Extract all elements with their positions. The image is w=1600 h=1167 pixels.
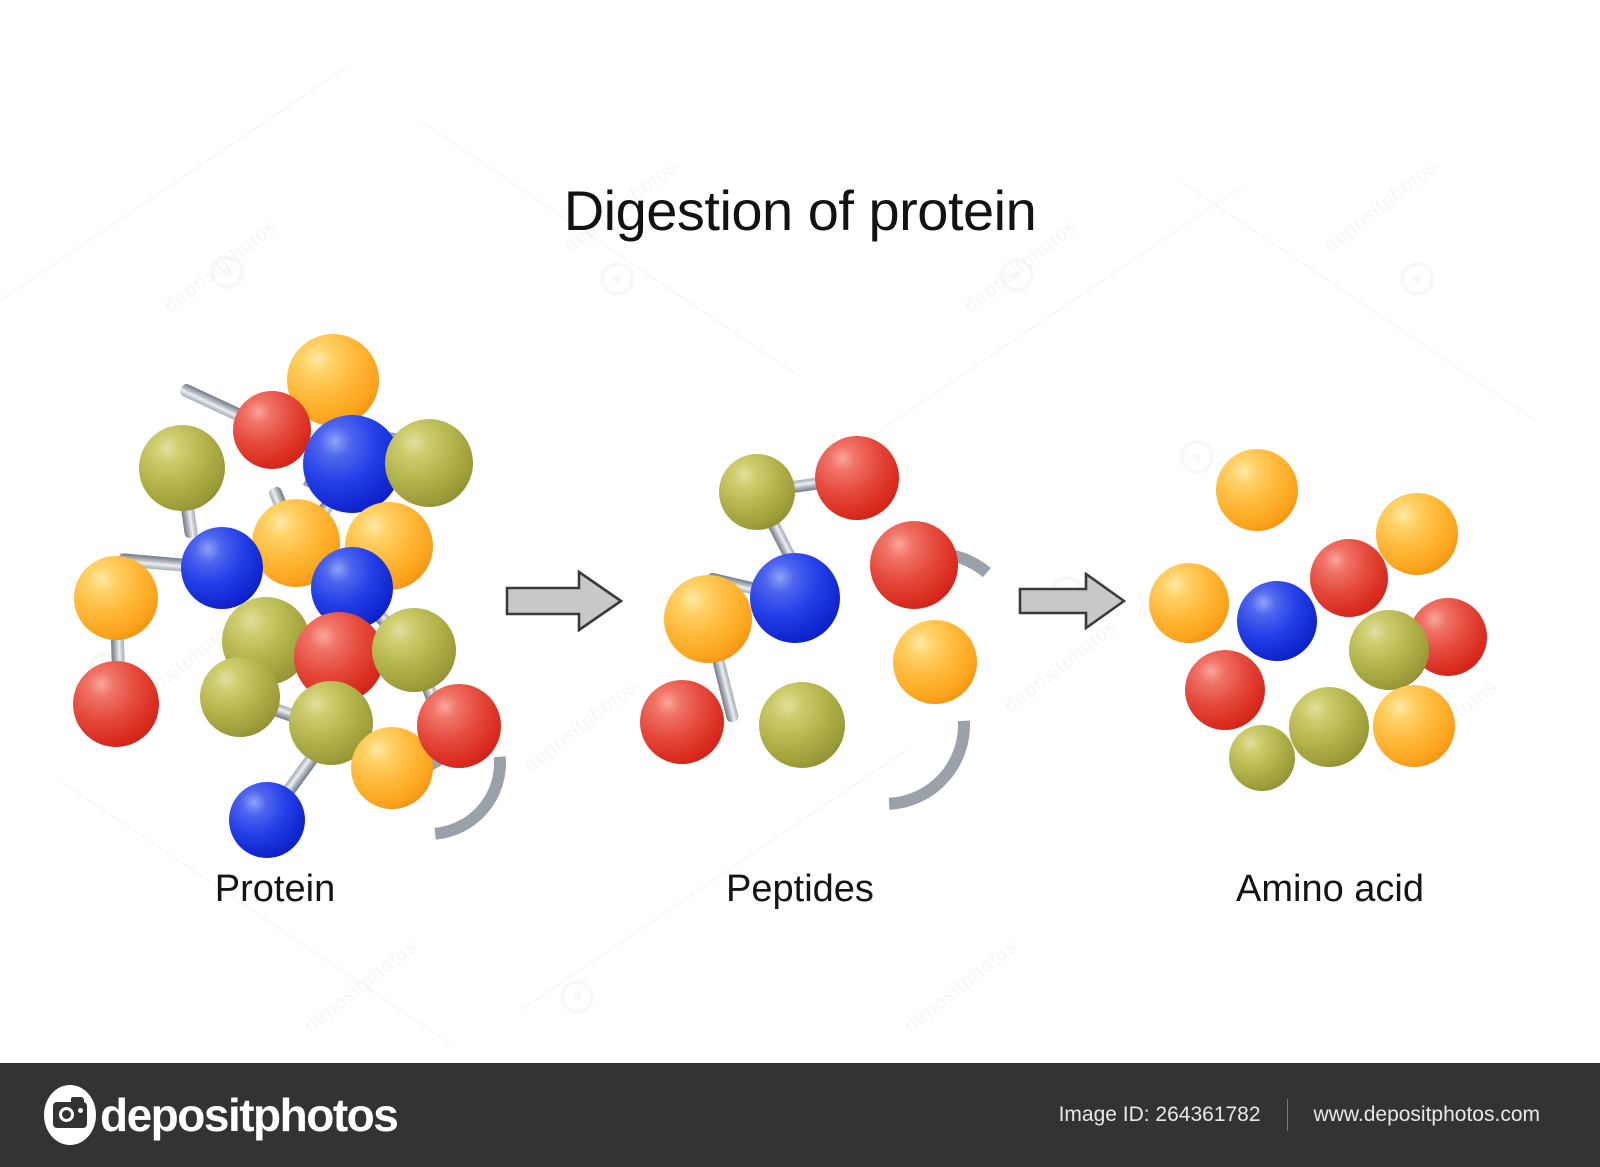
atom-red [1310,539,1388,617]
atom-orange [1216,449,1298,531]
atom-red [233,391,311,469]
atom-olive [372,608,456,692]
meta-divider [1287,1099,1288,1131]
atom-olive [200,657,280,737]
depositphotos-logo[interactable]: depositphotos [44,1085,397,1145]
footer-bar: depositphotos Image ID: 264361782 www.de… [0,1063,1600,1167]
atom-red [73,661,159,747]
atom-red [417,684,501,768]
stage-label-amino-acid: Amino acid [1160,868,1500,911]
atom-blue [181,527,263,609]
atom-orange [1373,685,1455,767]
atom-red [640,680,724,764]
atom-olive [1289,687,1369,767]
image-id-text: Image ID: 264361782 [1059,1103,1261,1127]
footer-meta: Image ID: 264361782 www.depositphotos.co… [1059,1063,1540,1167]
stage-label-peptides: Peptides [640,868,960,911]
atom-orange [74,556,158,640]
camera-lens [59,1107,74,1122]
atom-orange [1149,563,1229,643]
camera-flash [78,1108,83,1113]
logo-text: depositphotos [100,1092,397,1138]
atom-blue [750,553,840,643]
arrow-protein-to-peptides [505,570,623,632]
atom-red [815,436,899,520]
atom-red [1185,650,1265,730]
atom-blue [229,782,305,858]
website-link[interactable]: www.depositphotos.com [1314,1103,1540,1127]
atom-orange [893,620,977,704]
atom-orange [664,575,752,663]
atom-olive [1229,725,1295,791]
atom-olive [385,419,473,507]
camera-icon [44,1085,96,1145]
atom-olive [719,454,795,530]
arrow-peptides-to-amino-acid [1018,572,1126,630]
atom-red [870,521,958,609]
atom-olive [139,425,225,511]
atom-orange [1376,493,1458,575]
atom-olive [759,682,845,768]
diagram-stage: Protein Peptides [0,0,1600,1060]
stage-label-protein: Protein [125,868,425,911]
atom-olive [1349,610,1429,690]
diagram-page: depositphotos depositphotos depositphoto… [0,0,1600,1167]
atom-blue [1237,581,1317,661]
